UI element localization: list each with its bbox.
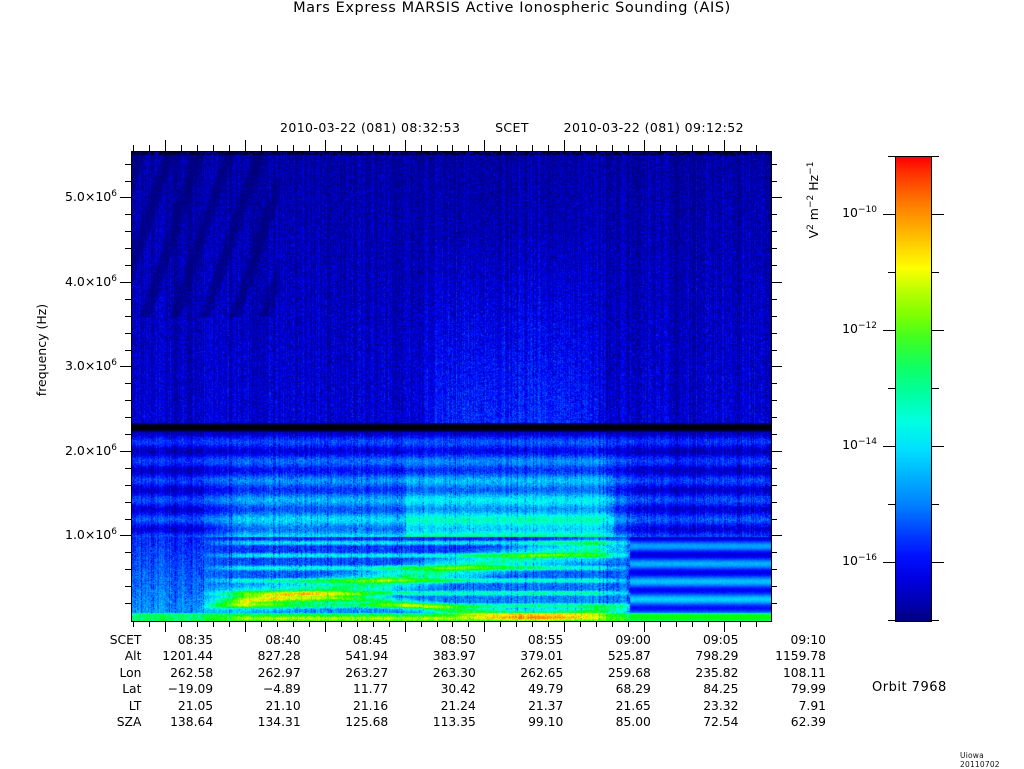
y-minor-tick [125,485,131,486]
y-minor-tick [125,316,131,317]
x-minor-tick-top [293,145,294,151]
y-minor-tick-right [771,299,777,300]
y-major-tick [120,451,131,452]
cell-alt-6: 798.29 [651,648,739,664]
cell-sza-7: 62.39 [738,714,826,730]
table-row: SCET08:3508:4008:4508:5008:5509:0009:050… [26,632,826,648]
x-major-tick [405,621,406,632]
row-label-lat: Lat [26,681,147,697]
y-major-tick-right [771,451,782,452]
y-minor-tick [125,333,131,334]
x-minor-tick-top [516,145,517,151]
y-minor-tick [125,214,131,215]
x-minor-tick [437,621,438,627]
y-minor-tick-right [771,485,777,486]
colorbar-major-tick [883,214,895,215]
x-major-tick-top [564,140,565,151]
x-minor-tick [309,621,310,627]
cell-alt-3: 383.97 [388,648,476,664]
cell-scet-2: 08:45 [301,632,389,648]
x-minor-tick [756,621,757,627]
y-tick-label-2: 3.0×106 [13,358,117,373]
cell-lt-5: 21.65 [563,698,651,714]
cell-sza-5: 85.00 [563,714,651,730]
y-minor-tick [125,350,131,351]
cell-lon-5: 259.68 [563,665,651,681]
x-major-tick [484,621,485,632]
x-minor-tick [468,621,469,627]
y-minor-tick [125,181,131,182]
x-minor-tick-top [261,145,262,151]
cell-lat-0: −19.09 [147,681,213,697]
x-minor-tick [213,621,214,627]
cell-scet-5: 09:00 [563,632,651,648]
x-minor-tick-top [437,145,438,151]
cell-sza-3: 113.35 [388,714,476,730]
y-minor-tick-right [771,248,777,249]
y-major-tick [120,282,131,283]
y-minor-tick [125,417,131,418]
colorbar-axis-label: V2 m−2 Hz−1 [806,100,821,300]
x-minor-tick [692,621,693,627]
table-row: Lat−19.09−4.8911.7730.4249.7968.2984.257… [26,681,826,697]
cell-scet-7: 09:10 [738,632,826,648]
cell-lt-0: 21.05 [147,698,213,714]
colorbar-minor-tick [888,504,895,505]
x-minor-tick [516,621,517,627]
x-minor-tick [421,621,422,627]
x-major-tick [724,621,725,632]
x-minor-tick [612,621,613,627]
colorbar-minor-tick-right [932,620,939,621]
x-minor-tick [293,621,294,627]
x-major-tick [325,621,326,632]
x-minor-tick-top [373,145,374,151]
x-major-tick [644,621,645,632]
cell-lon-4: 262.65 [476,665,564,681]
y-major-tick-right [771,535,782,536]
y-minor-tick [125,299,131,300]
cell-alt-2: 541.94 [301,648,389,664]
x-major-tick-top [325,140,326,151]
cell-sza-1: 134.31 [213,714,301,730]
table-row: Lon262.58262.97263.27263.30262.65259.682… [26,665,826,681]
cell-scet-0: 08:35 [147,632,213,648]
y-major-tick-right [771,282,782,283]
x-minor-tick-top [277,145,278,151]
x-minor-tick [740,621,741,627]
row-label-scet: SCET [26,632,147,648]
colorbar-major-tick-right [932,562,944,563]
y-tick-label-4: 5.0×106 [13,189,117,204]
spectrogram-plot[interactable] [131,151,772,622]
x-minor-tick [389,621,390,627]
y-minor-tick-right [771,400,777,401]
cell-lon-3: 263.30 [388,665,476,681]
x-major-tick [165,621,166,632]
time-system-label: SCET [495,120,529,135]
row-label-lt: LT [26,698,147,714]
y-major-tick [120,535,131,536]
watermark-label: Uiowa 20110702 [960,751,1024,769]
cell-lat-3: 30.42 [388,681,476,697]
cell-alt-7: 1159.78 [738,648,826,664]
x-minor-tick-top [628,145,629,151]
colorbar-tick-label-0: 10−16 [803,553,877,568]
colorbar-minor-tick-right [932,504,939,505]
y-minor-tick [125,383,131,384]
cell-sza-0: 138.64 [147,714,213,730]
y-major-tick-right [771,197,782,198]
cell-lat-4: 49.79 [476,681,564,697]
x-minor-tick-top [309,145,310,151]
colorbar-major-tick [883,446,895,447]
cell-lt-6: 23.32 [651,698,739,714]
x-minor-tick-top [468,145,469,151]
x-minor-tick-top [532,145,533,151]
x-minor-tick-top [133,145,134,151]
colorbar-major-tick [883,330,895,331]
x-minor-tick [181,621,182,627]
x-minor-tick [548,621,549,627]
x-minor-tick-top [660,145,661,151]
y-minor-tick [125,552,131,553]
y-major-tick-right [771,366,782,367]
orbit-label: Orbit 7968 [872,680,947,695]
cell-lat-6: 84.25 [651,681,739,697]
cell-lat-7: 79.99 [738,681,826,697]
y-minor-tick-right [771,350,777,351]
x-minor-tick-top [181,145,182,151]
cell-lat-5: 68.29 [563,681,651,697]
x-minor-tick [357,621,358,627]
x-minor-tick-top [612,145,613,151]
y-minor-tick-right [771,417,777,418]
colorbar-tick-label-2: 10−12 [803,321,877,336]
x-minor-tick [628,621,629,627]
y-tick-label-1: 2.0×106 [13,443,117,458]
colorbar-major-tick [883,562,895,563]
y-minor-tick [125,265,131,266]
y-major-tick [120,366,131,367]
colorbar-major-tick-right [932,330,944,331]
colorbar-minor-tick-right [932,272,939,273]
y-minor-tick-right [771,603,777,604]
y-minor-tick [125,231,131,232]
x-minor-tick-top [149,145,150,151]
x-minor-tick [133,621,134,627]
y-minor-tick-right [771,164,777,165]
x-minor-tick-top [452,145,453,151]
y-minor-tick-right [771,586,777,587]
x-minor-tick [277,621,278,627]
x-major-tick-top [724,140,725,151]
table-row: SZA138.64134.31125.68113.3599.1085.0072.… [26,714,826,730]
colorbar [895,156,932,622]
x-minor-tick-top [421,145,422,151]
x-minor-tick [229,621,230,627]
x-minor-tick-top [580,145,581,151]
cell-lt-4: 21.37 [476,698,564,714]
y-minor-tick [125,248,131,249]
cell-alt-4: 379.01 [476,648,564,664]
y-major-tick [120,197,131,198]
x-minor-tick-top [229,145,230,151]
y-minor-tick-right [771,383,777,384]
table-row: LT21.0521.1021.1621.2421.3721.6523.327.9… [26,698,826,714]
x-minor-tick-top [756,145,757,151]
y-minor-tick-right [771,214,777,215]
colorbar-major-tick-right [932,446,944,447]
x-minor-tick-top [500,145,501,151]
y-minor-tick-right [771,231,777,232]
x-minor-tick-top [740,145,741,151]
y-minor-tick [125,519,131,520]
x-major-tick [245,621,246,632]
y-minor-tick [125,603,131,604]
y-minor-tick [125,164,131,165]
end-datetime: 2010-03-22 (081) 09:12:52 [564,120,744,135]
y-minor-tick-right [771,569,777,570]
cell-scet-1: 08:40 [213,632,301,648]
y-tick-label-0: 1.0×106 [13,527,117,542]
x-minor-tick [197,621,198,627]
colorbar-minor-tick [888,388,895,389]
cell-scet-6: 09:05 [651,632,739,648]
cell-alt-1: 827.28 [213,648,301,664]
y-minor-tick-right [771,502,777,503]
y-minor-tick-right [771,265,777,266]
time-range-subtitle: 2010-03-22 (081) 08:32:53 SCET 2010-03-2… [0,120,1024,135]
cell-lat-2: 11.77 [301,681,389,697]
x-minor-tick [660,621,661,627]
page-title: Mars Express MARSIS Active Ionospheric S… [0,0,1024,16]
y-tick-label-3: 4.0×106 [13,274,117,289]
cell-lon-0: 262.58 [147,665,213,681]
colorbar-tick-label-1: 10−14 [803,437,877,452]
x-minor-tick-top [213,145,214,151]
y-minor-tick [125,400,131,401]
x-major-tick-top [644,140,645,151]
y-minor-tick [125,502,131,503]
x-minor-tick [149,621,150,627]
cell-lon-6: 235.82 [651,665,739,681]
y-minor-tick-right [771,519,777,520]
y-minor-tick [125,569,131,570]
y-minor-tick-right [771,316,777,317]
cell-sza-2: 125.68 [301,714,389,730]
y-minor-tick [125,586,131,587]
y-minor-tick-right [771,333,777,334]
cell-alt-5: 525.87 [563,648,651,664]
ephemeris-table-body: SCET08:3508:4008:4508:5008:5509:0009:050… [26,632,826,730]
x-minor-tick [341,621,342,627]
ephemeris-table: SCET08:3508:4008:4508:5008:5509:0009:050… [0,632,800,730]
cell-sza-4: 99.10 [476,714,564,730]
cell-lt-7: 7.91 [738,698,826,714]
x-major-tick-top [165,140,166,151]
x-minor-tick-top [389,145,390,151]
cell-sza-6: 72.54 [651,714,739,730]
cell-lt-1: 21.10 [213,698,301,714]
x-minor-tick-top [708,145,709,151]
x-minor-tick-top [676,145,677,151]
colorbar-gradient [896,157,931,621]
y-minor-tick [125,468,131,469]
x-minor-tick-top [341,145,342,151]
colorbar-minor-tick-right [932,156,939,157]
cell-lt-3: 21.24 [388,698,476,714]
cell-scet-4: 08:55 [476,632,564,648]
x-minor-tick [580,621,581,627]
x-major-tick [564,621,565,632]
spectrogram-image [132,152,771,621]
cell-lon-2: 263.27 [301,665,389,681]
x-minor-tick-top [357,145,358,151]
colorbar-minor-tick [888,156,895,157]
x-minor-tick [532,621,533,627]
y-minor-tick-right [771,468,777,469]
colorbar-minor-tick-right [932,388,939,389]
x-major-tick-top [245,140,246,151]
start-datetime: 2010-03-22 (081) 08:32:53 [280,120,460,135]
cell-lon-1: 262.97 [213,665,301,681]
y-minor-tick-right [771,181,777,182]
x-minor-tick [373,621,374,627]
colorbar-minor-tick [888,620,895,621]
x-major-tick-top [405,140,406,151]
x-minor-tick [676,621,677,627]
cell-alt-0: 1201.44 [147,648,213,664]
row-label-sza: SZA [26,714,147,730]
cell-lat-1: −4.89 [213,681,301,697]
cell-scet-3: 08:50 [388,632,476,648]
row-label-lon: Lon [26,665,147,681]
x-minor-tick-top [596,145,597,151]
x-major-tick-top [484,140,485,151]
y-minor-tick-right [771,552,777,553]
y-minor-tick [125,434,131,435]
x-minor-tick [261,621,262,627]
colorbar-minor-tick [888,272,895,273]
x-minor-tick-top [548,145,549,151]
x-minor-tick [708,621,709,627]
x-minor-tick-top [197,145,198,151]
cell-lt-2: 21.16 [301,698,389,714]
y-minor-tick-right [771,434,777,435]
x-minor-tick [596,621,597,627]
x-minor-tick [452,621,453,627]
row-label-alt: Alt [26,648,147,664]
colorbar-major-tick-right [932,214,944,215]
x-minor-tick-top [692,145,693,151]
table-row: Alt1201.44827.28541.94383.97379.01525.87… [26,648,826,664]
cell-lon-7: 108.11 [738,665,826,681]
x-minor-tick [500,621,501,627]
